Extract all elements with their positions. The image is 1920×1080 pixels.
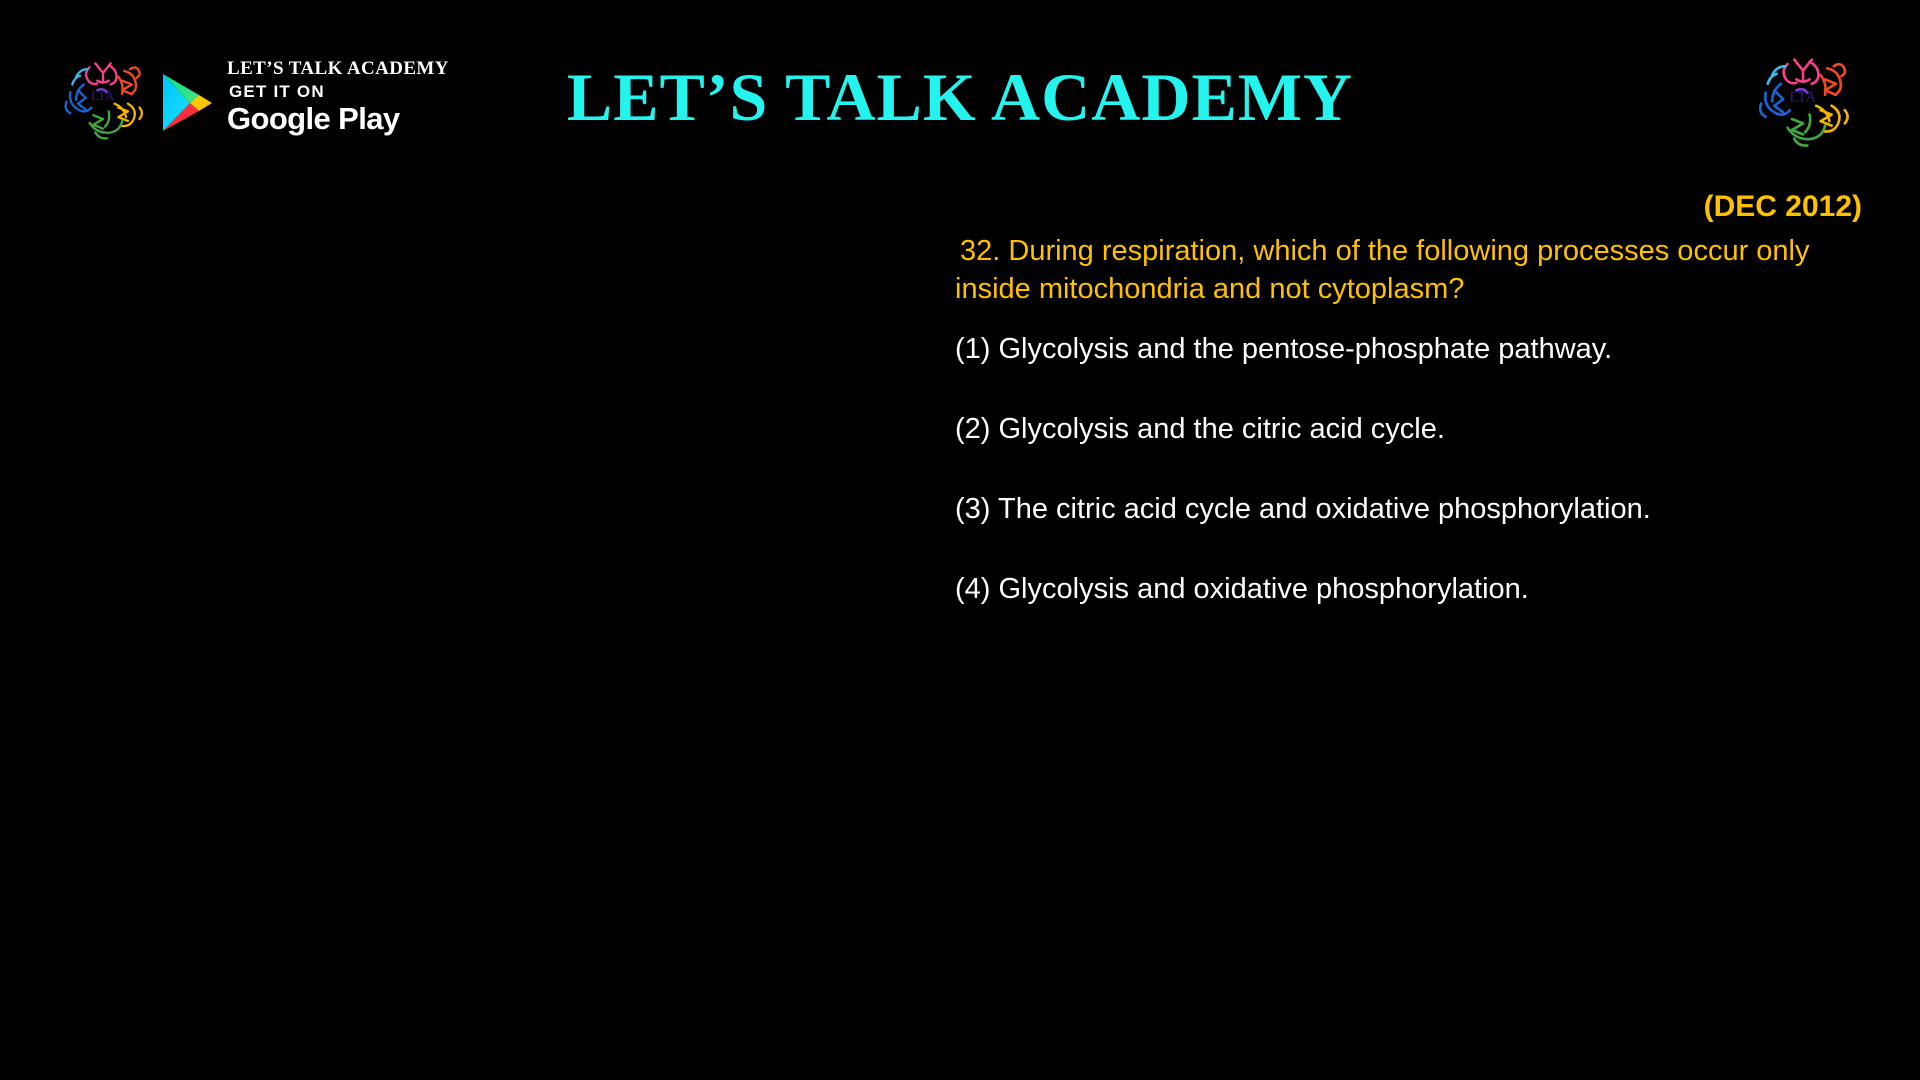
lta-protein-ring-logo-right-icon: LTA	[1748, 42, 1858, 152]
exam-session-badge: (DEC 2012)	[1704, 190, 1862, 224]
svg-text:LTA: LTA	[1790, 89, 1817, 105]
page-title: LET’S TALK ACADEMY	[0, 58, 1920, 137]
option-1[interactable]: (1) Glycolysis and the pentose-phosphate…	[955, 331, 1870, 367]
question-block: 32. During respiration, which of the fol…	[955, 232, 1870, 608]
question-text: 32. During respiration, which of the fol…	[955, 232, 1870, 309]
option-3[interactable]: (3) The citric acid cycle and oxidative …	[955, 491, 1870, 527]
option-2[interactable]: (2) Glycolysis and the citric acid cycle…	[955, 411, 1870, 447]
slide-canvas: LTA	[0, 0, 1920, 1080]
options-list: (1) Glycolysis and the pentose-phosphate…	[955, 331, 1870, 608]
option-4[interactable]: (4) Glycolysis and oxidative phosphoryla…	[955, 571, 1870, 607]
